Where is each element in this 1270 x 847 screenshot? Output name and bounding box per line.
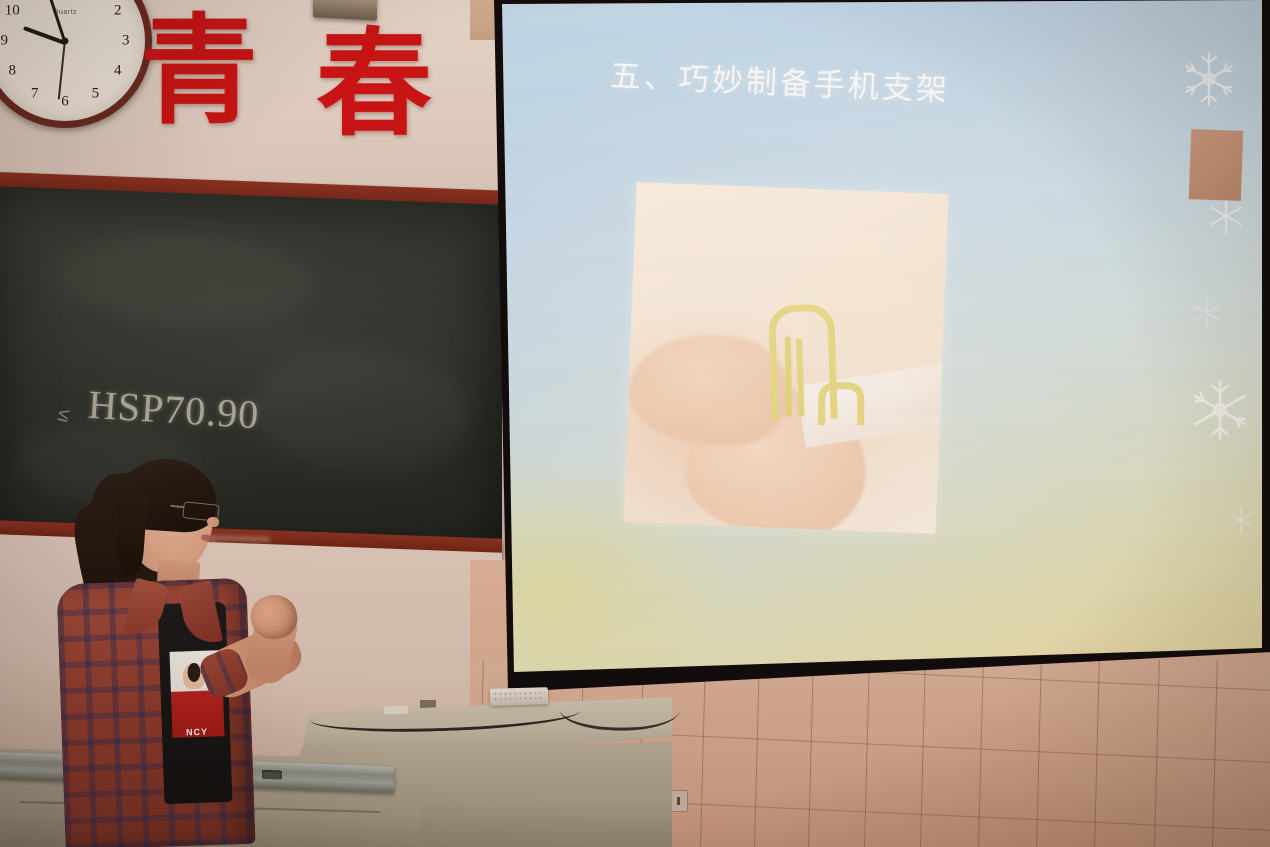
clock-number-9: 9 xyxy=(0,33,8,50)
clock-face: 12 1 2 3 4 5 6 7 8 9 10 11 Quartz xyxy=(0,0,145,121)
snowflake-icon xyxy=(1180,50,1238,108)
paperclip-inner-loop xyxy=(785,336,812,416)
snowflake-icon xyxy=(1190,296,1224,330)
power-strip-texture xyxy=(493,690,545,702)
clock-number-2: 2 xyxy=(114,2,122,19)
slide-title: 五、巧妙制备手机支架 xyxy=(609,50,1170,118)
screen-shadow-patch xyxy=(1189,129,1243,201)
presenter: NCY xyxy=(55,455,315,847)
clock-center-pin xyxy=(62,38,69,45)
podium-small-object xyxy=(384,706,408,715)
clock-number-3: 3 xyxy=(122,33,130,50)
projection-screen: 五、巧妙制备手机支架 xyxy=(472,0,1270,692)
slide-photo xyxy=(624,182,949,534)
snowflake-icon xyxy=(1206,196,1246,236)
presenter-tshirt-text: NCY xyxy=(173,726,221,738)
paperclip-small-loop xyxy=(818,382,864,425)
clock-number-6: 6 xyxy=(61,93,69,110)
clock-number-8: 8 xyxy=(8,63,16,80)
clock-number-7: 7 xyxy=(31,85,39,102)
photo-thumb xyxy=(627,332,791,448)
clock-number-10: 10 xyxy=(5,2,20,19)
wall-character-qing: 青 xyxy=(140,12,258,130)
snowflake-icon xyxy=(1188,378,1252,442)
snowflake-icon xyxy=(1226,505,1256,535)
projected-slide: 五、巧妙制备手机支架 xyxy=(490,0,1262,672)
clock-second-hand xyxy=(58,42,66,100)
power-strip xyxy=(490,687,548,706)
clock-number-5: 5 xyxy=(92,85,100,102)
clock-number-4: 4 xyxy=(114,63,122,80)
classroom-photo-scene: 12 1 2 3 4 5 6 7 8 9 10 11 Quartz 青 春 ≤ … xyxy=(0,0,1270,847)
wall-character-chun: 春 xyxy=(316,26,432,142)
